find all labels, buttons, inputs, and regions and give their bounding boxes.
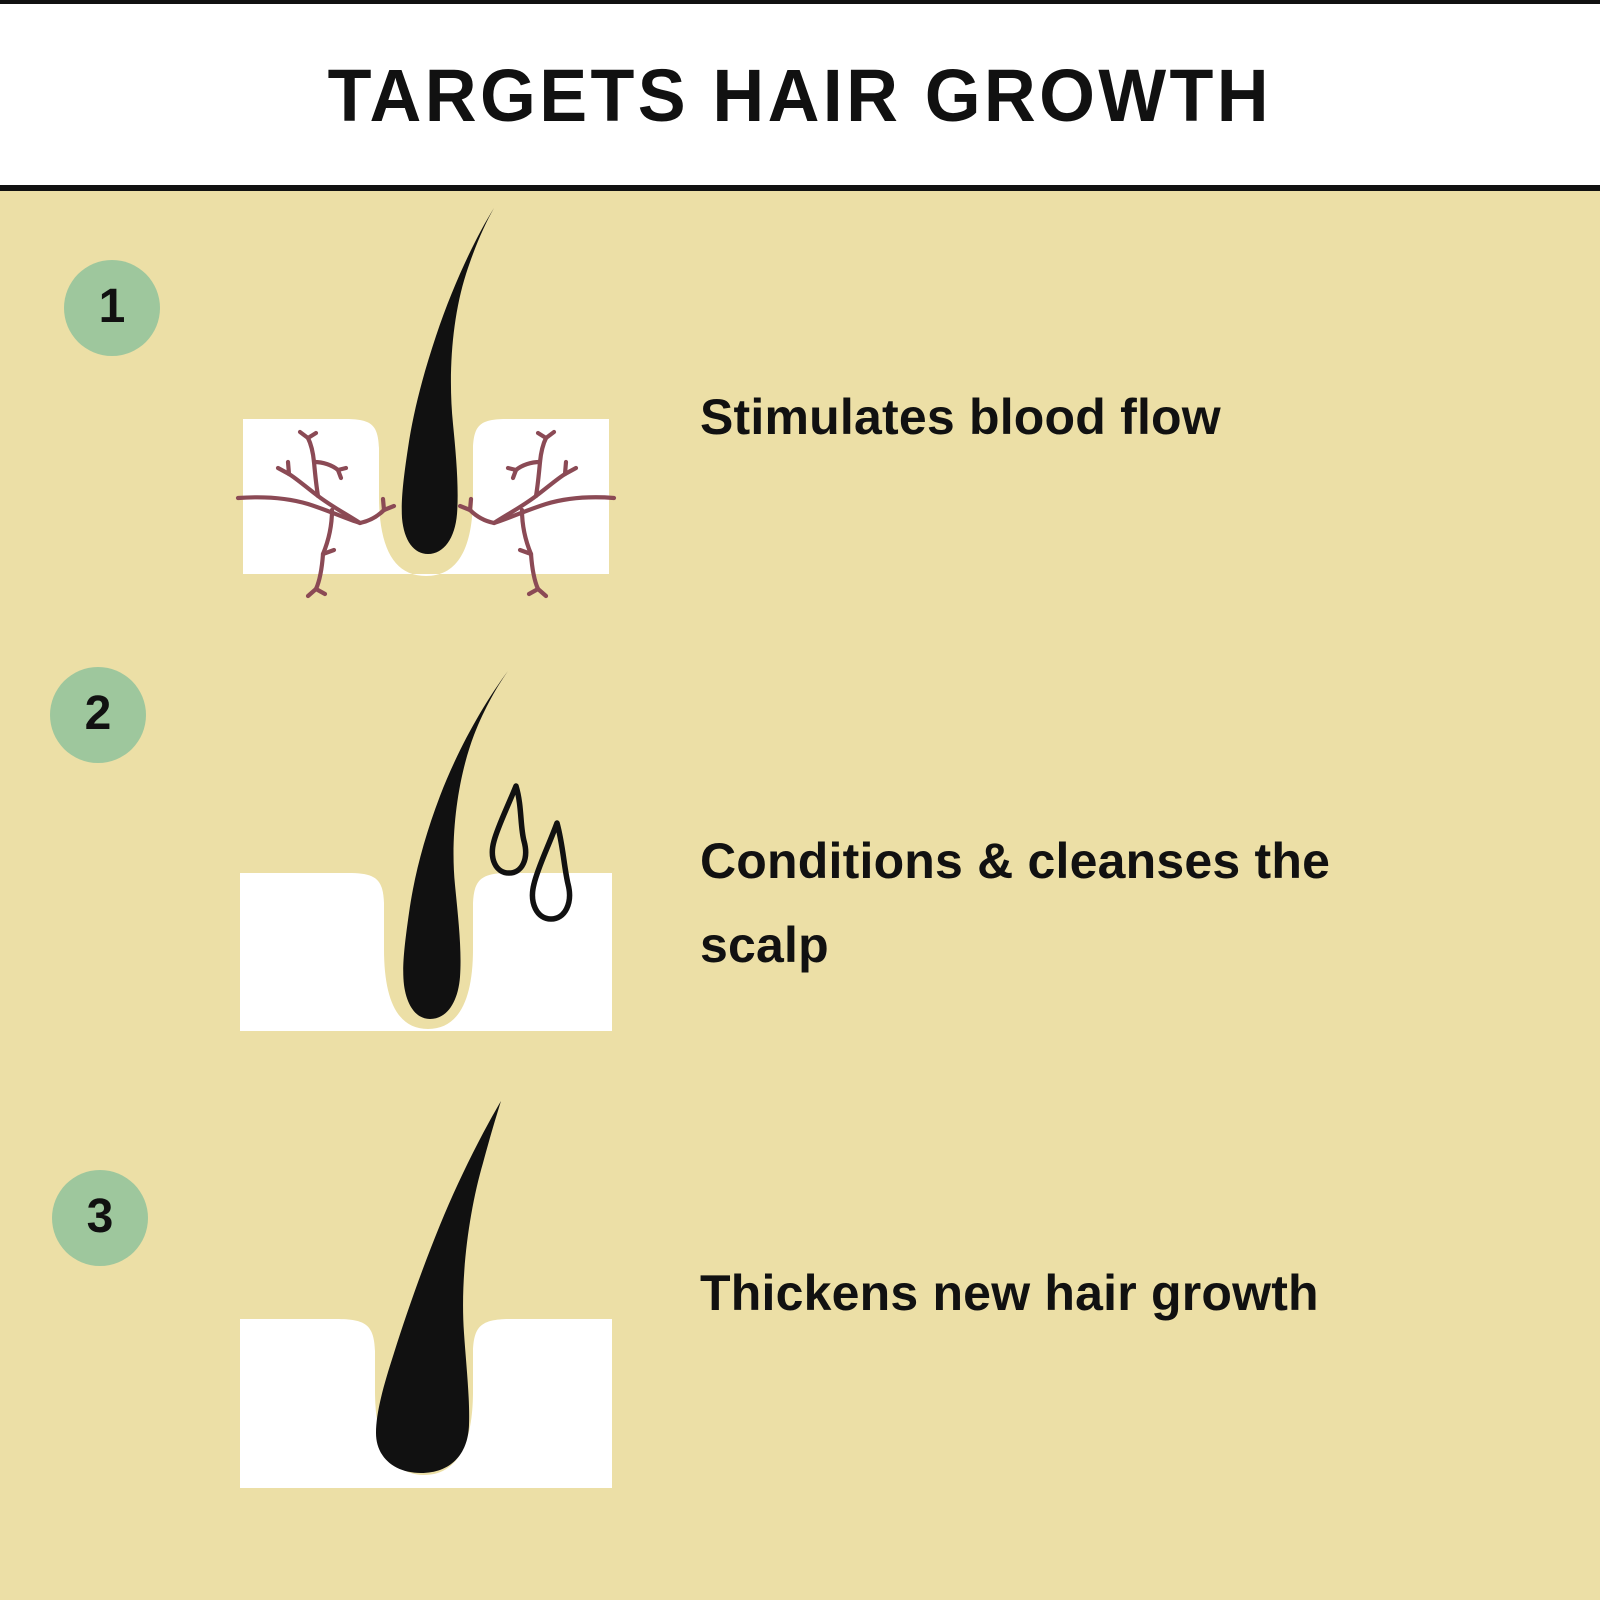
step-row-2: 2 Conditions & cleanses the scalp [0,611,1600,1071]
step-caption-2: Conditions & cleanses the scalp [700,819,1390,987]
infographic-root: TARGETS HAIR GROWTH 1 [0,0,1600,1600]
step-row-3: 3 Thickens new hair growth [0,1071,1600,1600]
step-number-1: 1 [99,283,126,331]
step-number-3: 3 [87,1193,114,1241]
step-badge-2: 2 [50,667,146,763]
step-row-1: 1 [0,191,1600,611]
step-badge-3: 3 [52,1170,148,1266]
hair-follicle-blood-vessels-icon [226,196,626,606]
step-caption-3: Thickens new hair growth [700,1251,1390,1335]
header-band: TARGETS HAIR GROWTH [0,4,1600,185]
page-title: TARGETS HAIR GROWTH [328,59,1272,133]
hair-follicle-thick-icon [226,1063,626,1493]
step-caption-1: Stimulates blood flow [700,375,1390,459]
step-number-2: 2 [85,690,112,738]
hair-follicle-droplets-icon [226,641,626,1061]
step-badge-1: 1 [64,260,160,356]
